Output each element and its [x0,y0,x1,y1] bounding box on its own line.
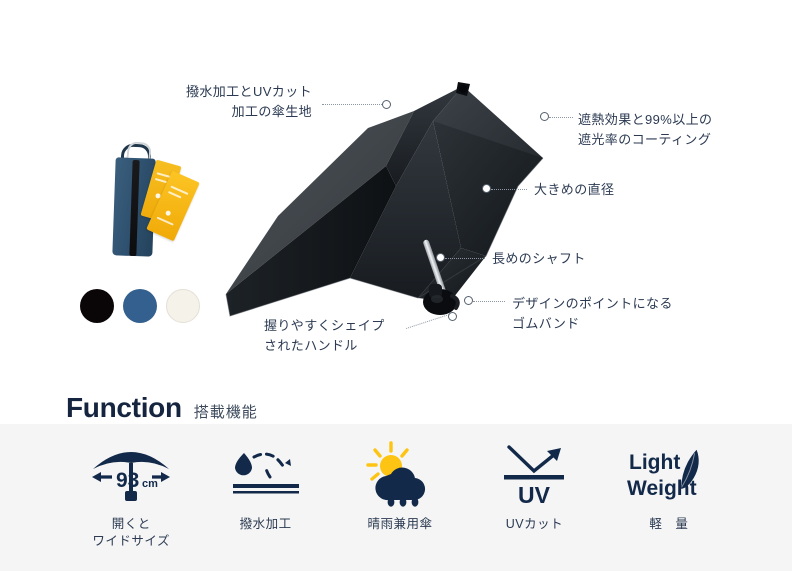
feature-light-weight: Light Weight 軽 量 [602,440,736,550]
width-unit: cm [142,478,158,490]
callout-fabric: 撥水加工とUVカット 加工の傘生地 [132,82,312,122]
feature-uv-cut: UV UVカット [467,440,601,550]
color-swatch-black[interactable] [80,289,114,323]
feature-uv-cut-caption: UVカット [506,516,563,533]
callout-coating-dot [540,112,549,121]
callout-coating-leader [549,117,573,118]
folded-umbrella-pouch-image [104,140,196,258]
feature-light-weight-caption: 軽 量 [649,516,688,533]
callout-band: デザインのポイントになる ゴムバンド [512,294,673,334]
feature-list: 93 cm 開くと ワイドサイズ [64,440,736,550]
function-heading: Function 搭載機能 [66,392,258,424]
hero-section: 撥水加工とUVカット 加工の傘生地 遮熱効果と99%以上の 遮光率のコーティング… [0,0,792,424]
feature-water-repellent-caption: 撥水加工 [240,516,292,533]
callout-fabric-leader [322,104,384,105]
callout-band-dot [464,296,473,305]
function-title-jp: 搭載機能 [194,401,258,422]
callout-coating: 遮熱効果と99%以上の 遮光率のコーティング [578,110,712,150]
infographic-root: 撥水加工とUVカット 加工の傘生地 遮熱効果と99%以上の 遮光率のコーティング… [0,0,792,571]
callout-diameter-dot [482,184,491,193]
callout-handle-dot [448,312,457,321]
callout-shaft-dot [436,253,445,262]
callout-diameter: 大きめの直径 [534,180,614,200]
umbrella-width-icon: 93 cm [88,440,174,508]
callout-handle: 握りやすくシェイプ されたハンドル [264,316,385,356]
callout-diameter-leader [491,189,527,190]
feature-water-repellent: 撥水加工 [198,440,332,550]
callout-band-leader [473,301,505,302]
callout-fabric-dot [382,100,391,109]
function-title-en: Function [66,392,182,424]
callout-shaft: 長めのシャフト [492,249,586,269]
color-swatch-ivory[interactable] [166,289,200,323]
width-value: 93 [116,469,139,492]
feature-wide-size-caption: 開くと ワイドサイズ [92,516,170,550]
color-swatch-group [80,289,200,327]
feature-sun-rain-caption: 晴雨兼用傘 [368,516,433,533]
light-weight-word1: Light [629,451,680,474]
color-swatch-blue[interactable] [123,289,157,323]
callout-shaft-leader [445,258,485,259]
feature-sun-rain: 晴雨兼用傘 [333,440,467,550]
water-repellent-icon [223,440,309,508]
uv-badge-text: UV [518,482,551,507]
uv-cut-icon: UV [491,440,577,508]
light-weight-icon: Light Weight [617,440,721,508]
sun-rain-icon [357,440,443,508]
feature-wide-size: 93 cm 開くと ワイドサイズ [64,440,198,550]
